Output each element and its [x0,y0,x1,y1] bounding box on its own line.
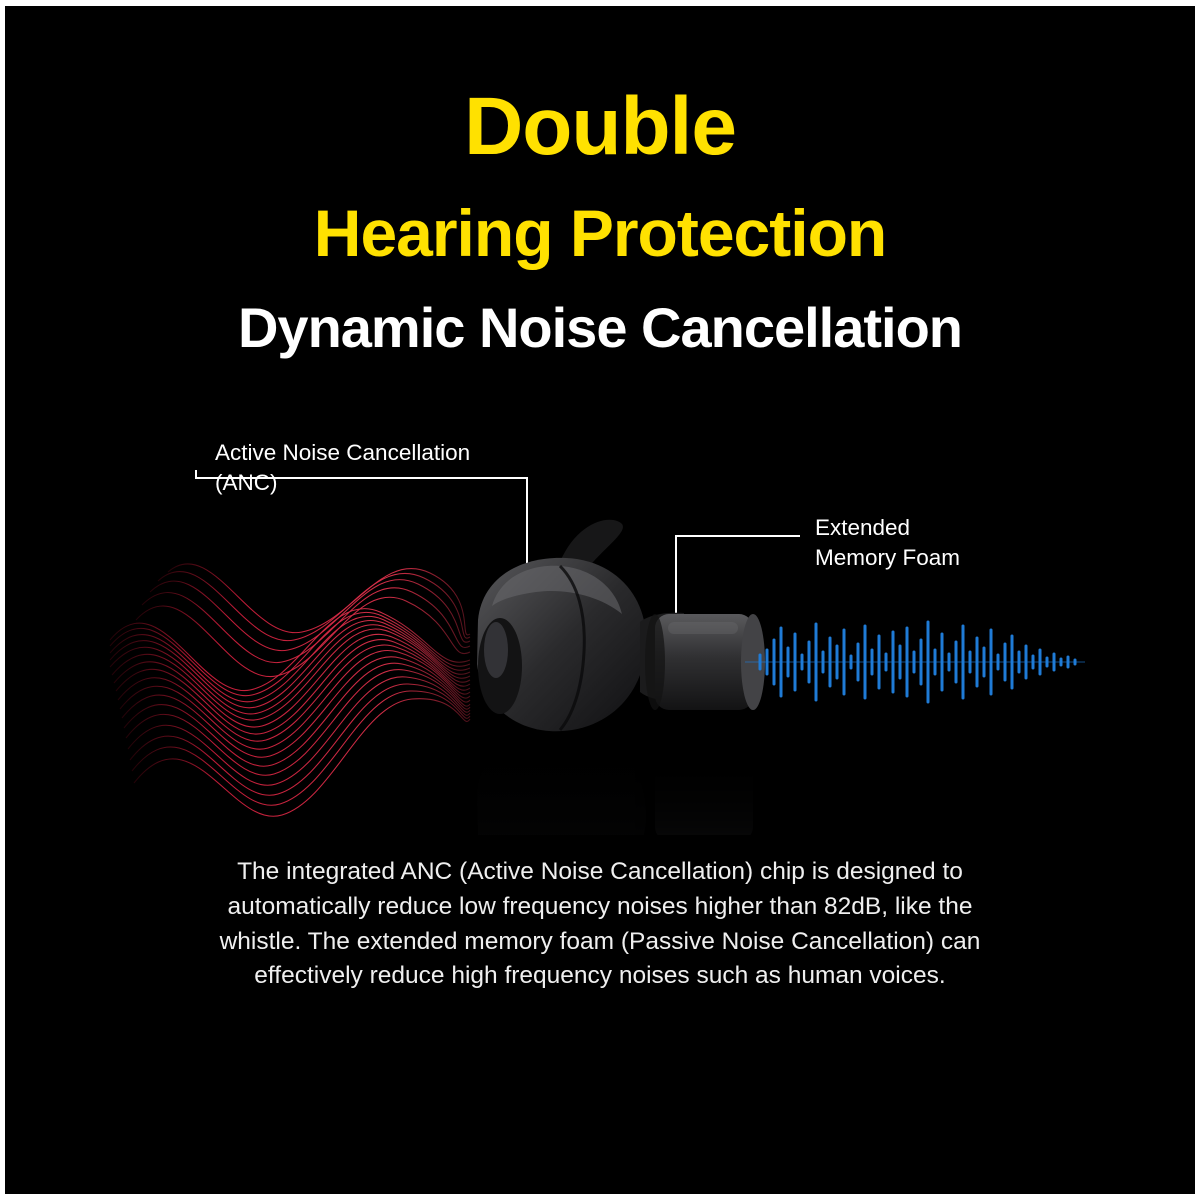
frame-edge-top [0,0,1200,6]
callout-foam-line-2: Memory Foam [815,543,1045,573]
product-illustration [0,0,1200,1200]
headline-line-2: Hearing Protection [0,200,1200,266]
body-copy-line-4: effectively reduce high frequency noises… [150,959,1050,994]
callout-anc-line-1: Active Noise Cancellation [215,438,545,468]
body-copy-line-3: whistle. The extended memory foam (Passi… [150,925,1050,960]
frame-edge-left [0,0,5,1200]
body-copy-line-2: automatically reduce low frequency noise… [150,890,1050,925]
frame-edge-bottom [0,1194,1200,1200]
callout-anc: Active Noise Cancellation (ANC) [215,438,545,499]
frame-edge-right [1195,0,1200,1200]
body-copy-line-1: The integrated ANC (Active Noise Cancell… [150,855,1050,890]
callout-anc-line-2: (ANC) [215,468,545,498]
callout-foam-line-1: Extended [815,513,1045,543]
headline-line-3: Dynamic Noise Cancellation [0,300,1200,356]
body-copy: The integrated ANC (Active Noise Cancell… [150,855,1050,994]
red-noise-wave [110,564,470,816]
headline-line-1: Double [0,86,1200,168]
callout-memory-foam: Extended Memory Foam [815,513,1045,574]
product-feature-poster: Double Hearing Protection Dynamic Noise … [0,0,1200,1200]
earbud-graphic [477,520,765,731]
